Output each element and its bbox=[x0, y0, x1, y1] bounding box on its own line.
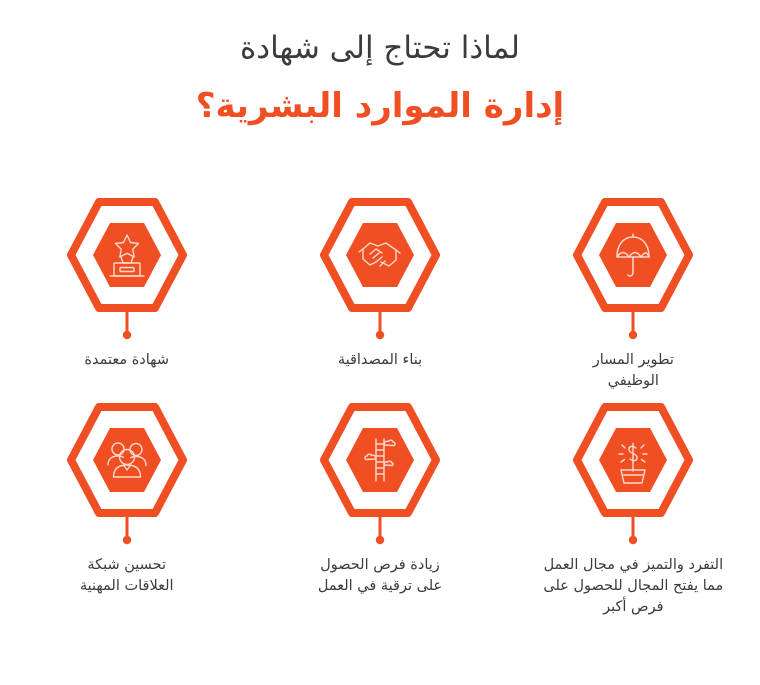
benefits-row-1: تطوير المسار الوظيفي bbox=[0, 196, 760, 392]
benefit-item-promotion-chances[interactable]: زيادة فرص الحصول على ترقية في العمل bbox=[253, 401, 506, 618]
hexagon-inner-fill bbox=[346, 428, 414, 492]
infographic-page: لماذا تحتاج إلى شهادة إدارة الموارد البش… bbox=[0, 0, 760, 685]
hexagon-badge bbox=[310, 196, 450, 344]
page-title-line2: إدارة الموارد البشرية؟ bbox=[0, 82, 760, 130]
benefit-label: زيادة فرص الحصول على ترقية في العمل bbox=[318, 555, 442, 597]
benefit-label: بناء المصداقية bbox=[338, 350, 422, 371]
benefit-item-career-development[interactable]: تطوير المسار الوظيفي bbox=[507, 196, 760, 392]
benefits-grid: تطوير المسار الوظيفي bbox=[0, 196, 760, 618]
connector-stem bbox=[376, 513, 384, 544]
benefit-label: شهادة معتمدة bbox=[84, 350, 169, 371]
hexagon-badge bbox=[310, 401, 450, 549]
hexagon-badge bbox=[563, 401, 703, 549]
connector-stem bbox=[629, 308, 637, 339]
hexagon-badge bbox=[57, 196, 197, 344]
hexagon-badge bbox=[57, 401, 197, 549]
benefit-item-credibility[interactable]: بناء المصداقية bbox=[253, 196, 506, 392]
benefits-row-2: التفرد والتميز في مجال العمل مما يفتح ال… bbox=[0, 401, 760, 618]
benefit-item-uniqueness-opportunities[interactable]: التفرد والتميز في مجال العمل مما يفتح ال… bbox=[507, 401, 760, 618]
benefit-label: تطوير المسار الوظيفي bbox=[593, 350, 674, 392]
hexagon-badge bbox=[563, 196, 703, 344]
hexagon-inner-fill bbox=[93, 223, 161, 287]
benefit-item-professional-network[interactable]: تحسين شبكة العلاقات المهنية bbox=[0, 401, 253, 618]
hexagon-inner-fill bbox=[346, 223, 414, 287]
hexagon-inner-fill bbox=[599, 223, 667, 287]
benefit-label: تحسين شبكة العلاقات المهنية bbox=[80, 555, 174, 597]
connector-stem bbox=[376, 308, 384, 339]
hexagon-inner-fill bbox=[93, 428, 161, 492]
connector-stem bbox=[122, 308, 130, 339]
connector-stem bbox=[122, 513, 130, 544]
benefit-label: التفرد والتميز في مجال العمل مما يفتح ال… bbox=[543, 555, 723, 618]
benefit-item-accredited-certificate[interactable]: شهادة معتمدة bbox=[0, 196, 253, 392]
page-title: لماذا تحتاج إلى شهادة إدارة الموارد البش… bbox=[0, 0, 760, 130]
connector-stem bbox=[629, 513, 637, 544]
page-title-line1: لماذا تحتاج إلى شهادة bbox=[0, 26, 760, 70]
